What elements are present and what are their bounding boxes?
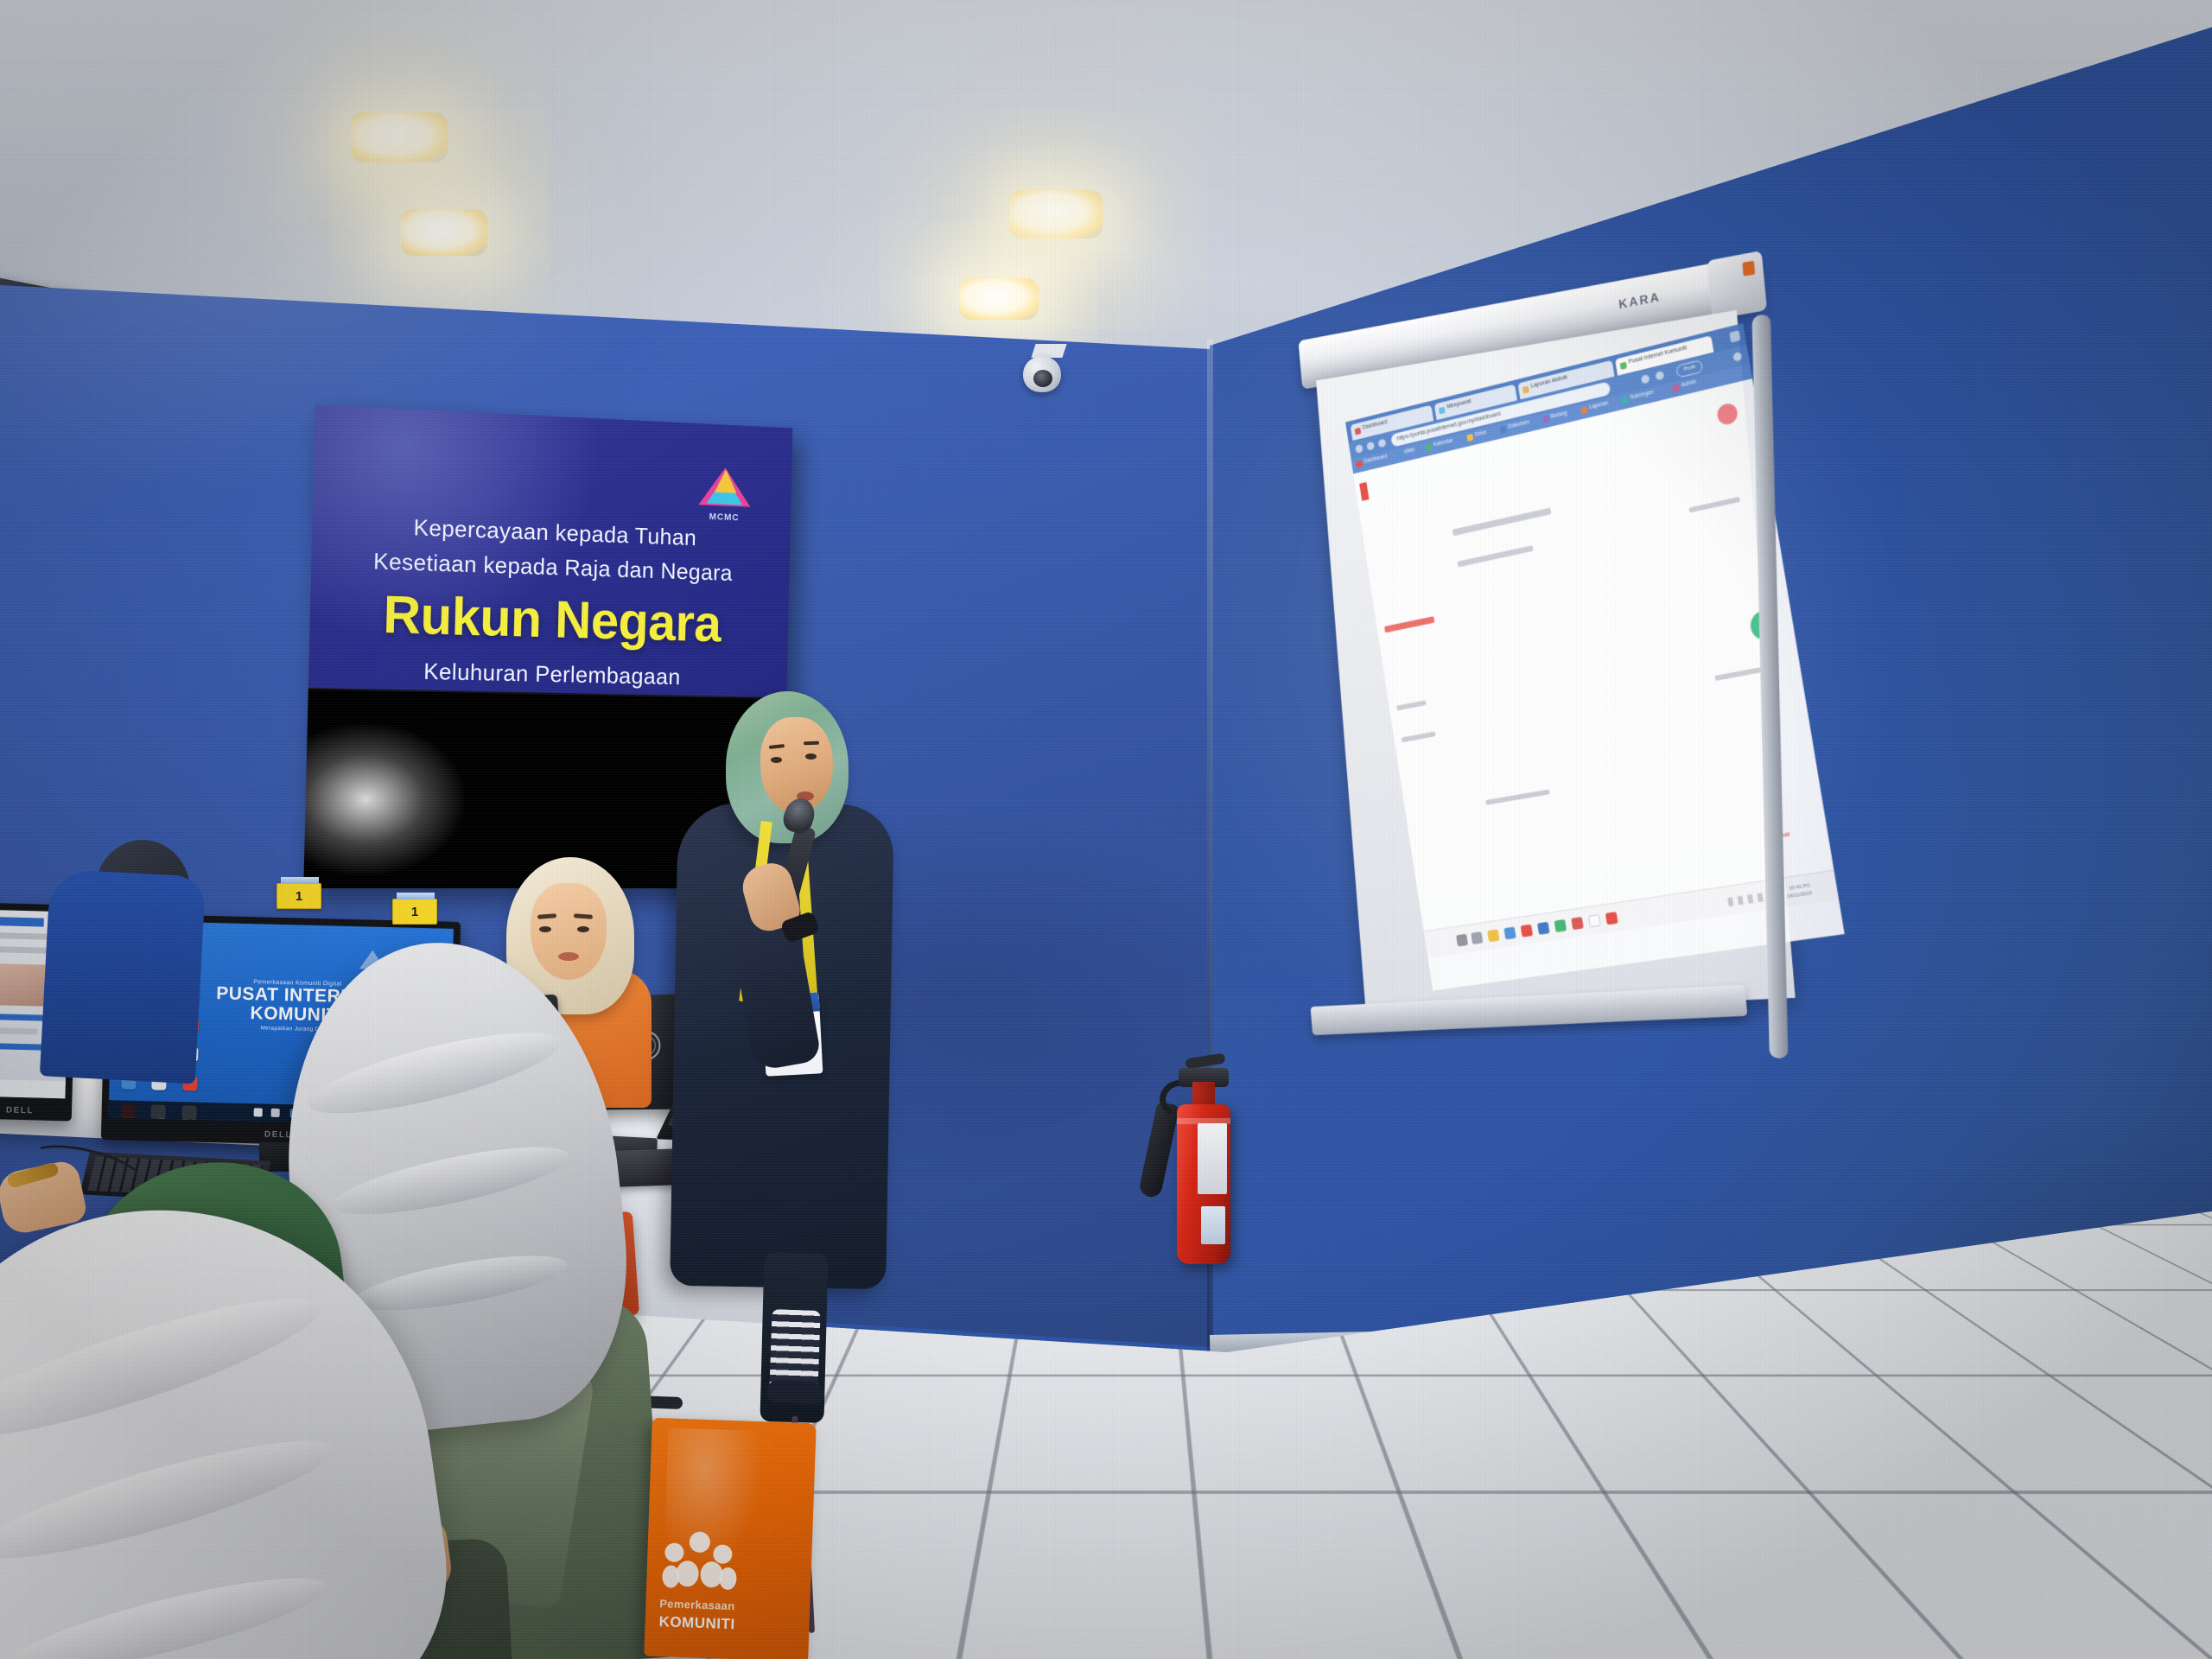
taskbar-chat-icon[interactable] — [1605, 912, 1618, 925]
new-tab-icon[interactable] — [1729, 330, 1740, 342]
taskbar-folder-icon[interactable] — [1487, 929, 1499, 942]
taskbar-clock: 10:41 PG 14/11/2019 — [1785, 882, 1813, 901]
komuniti-logo-icon — [662, 1530, 743, 1593]
reload-icon[interactable] — [1378, 438, 1387, 448]
notification-badge — [1716, 402, 1739, 427]
bookmark-item: Borang — [1542, 410, 1567, 422]
taskbar-sheet-icon[interactable] — [1554, 919, 1567, 932]
presenter-shoe — [766, 1379, 824, 1404]
back-arrow-icon[interactable] — [1355, 444, 1363, 454]
poster-title: Rukun Negara — [330, 583, 770, 656]
ceiling-light-3 — [1009, 190, 1103, 238]
ceiling-light-4 — [959, 278, 1039, 320]
projector-screen-brand: KARA — [1618, 290, 1662, 312]
taskbar-start-icon[interactable] — [254, 1108, 263, 1116]
overflow-menu-icon[interactable] — [1732, 352, 1742, 362]
tote-bag-line-1: Pemerkasaan — [659, 1597, 735, 1612]
ceiling-light-2 — [401, 209, 487, 256]
projector-screen: KARA Dashboard Mesyuarat Laporan Ak — [1300, 301, 1770, 1182]
tote-bag[interactable]: Pemerkasaan KOMUNITI — [644, 1418, 817, 1659]
taskbar-mail-icon[interactable] — [1537, 922, 1550, 935]
taskbar-search-icon[interactable] — [1471, 931, 1483, 944]
taskbar-app-icon[interactable] — [1521, 925, 1533, 938]
taskbar-media-icon[interactable] — [1588, 914, 1601, 927]
fire-extinguisher-label — [1198, 1123, 1227, 1194]
tote-bag-line-2: KOMUNITI — [658, 1613, 735, 1633]
taskbar-doc-icon[interactable] — [1571, 917, 1584, 930]
bookmark-star-icon[interactable] — [1641, 374, 1650, 385]
student-with-phone-mouth — [558, 952, 579, 961]
classroom-photo: MCMC Kepercayaan kepada Tuhan Kesetiaan … — [0, 0, 2212, 1659]
page-highlight-text — [1384, 616, 1434, 632]
asset-tag-left: 1 — [276, 883, 321, 909]
asset-tag-main: 1 — [392, 899, 437, 925]
bookmark-item: Admin — [1672, 379, 1697, 391]
bookmark-item: Drive — [1466, 429, 1487, 440]
cctv-camera-icon — [1023, 356, 1061, 392]
extensions-icon[interactable] — [1655, 371, 1664, 381]
screen-led-icon — [1742, 261, 1755, 276]
mcmc-logo-icon: MCMC — [698, 467, 751, 520]
cctv-bracket — [1031, 344, 1066, 358]
taskbar-search-icon[interactable] — [271, 1109, 280, 1117]
monitor-left-taskbar[interactable] — [0, 1079, 66, 1099]
taskbar-start-icon[interactable] — [1456, 934, 1468, 947]
bookmark-item: eMel — [1396, 447, 1415, 456]
student-blue-shirt — [40, 868, 206, 1084]
taskbar-browser-icon[interactable] — [1503, 926, 1516, 939]
page-accent-bar — [1359, 482, 1369, 501]
projection-surface: Dashboard Mesyuarat Laporan Aktiviti Pus… — [1316, 310, 1796, 1017]
fire-extinguisher-service-tag — [1201, 1206, 1225, 1244]
monitor-left-brand: DELL — [0, 1104, 72, 1116]
ceiling-light-1 — [351, 112, 448, 162]
forward-arrow-icon[interactable] — [1366, 442, 1375, 451]
